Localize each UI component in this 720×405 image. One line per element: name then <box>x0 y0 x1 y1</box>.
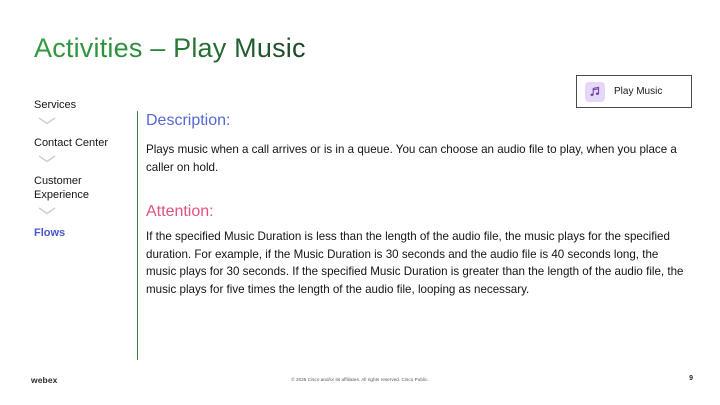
attention-heading: Attention: <box>146 202 693 222</box>
play-music-badge[interactable]: Play Music <box>576 75 692 108</box>
sidebar-item-customer-experience[interactable]: Customer Experience <box>34 174 126 202</box>
music-note-icon <box>585 82 605 102</box>
page-title: Activities – Play Music <box>34 33 306 64</box>
copyright-notice: © 2025 Cisco and/or its affiliates. All … <box>0 377 720 382</box>
breadcrumb: Services Contact Center Customer Experie… <box>34 98 126 240</box>
sidebar-item-contact-center[interactable]: Contact Center <box>34 136 126 150</box>
badge-label: Play Music <box>614 86 662 97</box>
sidebar-item-services[interactable]: Services <box>34 98 126 112</box>
chevron-down-icon <box>34 155 126 174</box>
description-body: Plays music when a call arrives or is in… <box>146 141 690 176</box>
page-number: 9 <box>689 375 693 382</box>
attention-body: If the specified Music Duration is less … <box>146 228 690 298</box>
chevron-down-icon <box>34 117 126 136</box>
content-panel: Description: Plays music when a call arr… <box>137 111 693 360</box>
chevron-down-icon <box>34 207 126 226</box>
description-heading: Description: <box>146 111 693 131</box>
sidebar-item-flows[interactable]: Flows <box>34 226 126 240</box>
